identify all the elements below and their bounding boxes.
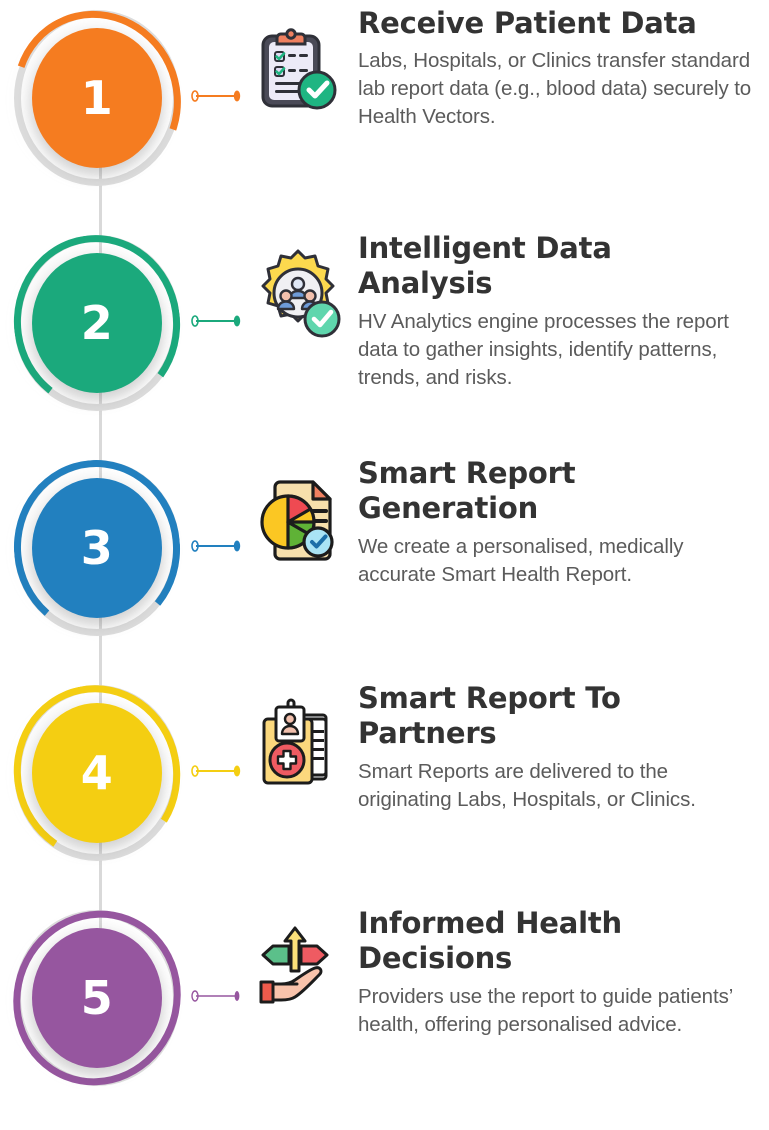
step-description: HV Analytics engine processes the report… xyxy=(358,308,755,392)
step-text-4: Smart Report To Partners Smart Reports a… xyxy=(358,675,769,814)
step-number: 2 xyxy=(81,300,114,346)
step-icon-5 xyxy=(238,900,358,1012)
gear-people-analytics-icon xyxy=(252,247,344,339)
process-step-2: 2 xyxy=(0,225,769,425)
process-step-5: 5 Informed Health Decis xyxy=(0,900,769,1100)
step-text-1: Receive Patient Data Labs, Hospitals, or… xyxy=(358,0,769,131)
step-badge-2: 2 xyxy=(0,225,200,425)
clipboard-checklist-icon xyxy=(255,22,341,114)
step-text-5: Informed Health Decisions Providers use … xyxy=(358,900,769,1039)
step-title: Smart Report To Partners xyxy=(358,681,755,752)
step-connector-3 xyxy=(190,538,242,554)
medical-records-folder-icon xyxy=(254,697,342,793)
badge-disc: 1 xyxy=(32,28,162,168)
step-connector-4 xyxy=(190,763,242,779)
step-icon-4 xyxy=(238,675,358,793)
step-title: Informed Health Decisions xyxy=(358,906,755,977)
step-badge-5: 5 xyxy=(0,900,200,1100)
process-step-1: 1 xyxy=(0,0,769,200)
step-title: Smart Report Generation xyxy=(358,456,755,527)
step-description: Providers use the report to guide patien… xyxy=(358,983,755,1039)
step-icon-2 xyxy=(238,225,358,339)
step-text-3: Smart Report Generation We create a pers… xyxy=(358,450,769,589)
process-flow-infographic: 1 xyxy=(0,0,769,1130)
process-step-3: 3 xyxy=(0,450,769,650)
badge-disc: 4 xyxy=(32,703,162,843)
badge-disc: 2 xyxy=(32,253,162,393)
step-badge-3: 3 xyxy=(0,450,200,650)
hand-directional-arrows-icon xyxy=(251,922,345,1012)
step-number: 1 xyxy=(81,75,114,121)
step-number: 3 xyxy=(81,525,114,571)
step-number: 5 xyxy=(81,975,114,1021)
pie-chart-document-icon xyxy=(252,472,344,564)
step-title: Receive Patient Data xyxy=(358,6,755,41)
step-text-2: Intelligent Data Analysis HV Analytics e… xyxy=(358,225,769,391)
step-connector-1 xyxy=(190,88,242,104)
badge-disc: 3 xyxy=(32,478,162,618)
process-step-4: 4 xyxy=(0,675,769,875)
step-description: We create a personalised, medically accu… xyxy=(358,533,755,589)
step-title: Intelligent Data Analysis xyxy=(358,231,755,302)
step-description: Labs, Hospitals, or Clinics transfer sta… xyxy=(358,47,755,131)
step-number: 4 xyxy=(81,750,114,796)
step-icon-1 xyxy=(238,0,358,114)
step-description: Smart Reports are delivered to the origi… xyxy=(358,758,755,814)
step-connector-5 xyxy=(190,988,242,1004)
badge-disc: 5 xyxy=(32,928,162,1068)
step-connector-2 xyxy=(190,313,242,329)
step-icon-3 xyxy=(238,450,358,564)
step-badge-1: 1 xyxy=(0,0,200,200)
step-badge-4: 4 xyxy=(0,675,200,875)
